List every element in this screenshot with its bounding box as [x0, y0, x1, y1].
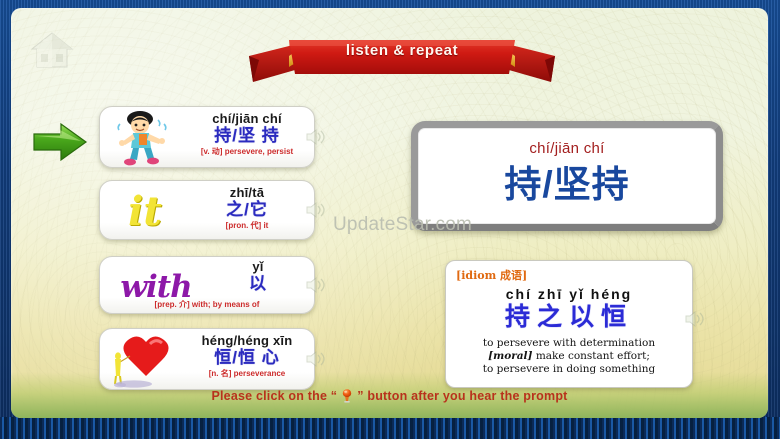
idiom-panel[interactable]: [idiom 成语] chí zhī yǐ héng 持之以恒 to perse… — [445, 260, 693, 388]
speaker-icon[interactable] — [304, 348, 326, 370]
vocab-card[interactable]: it zhī/tā 之/它 [pron. 代] it — [99, 180, 315, 240]
idiom-definition-line-3: to persevere in doing something — [454, 363, 684, 376]
vocab-part-of-speech: [n. 名] — [209, 369, 232, 378]
main-pinyin: chí/jiān chí — [418, 140, 716, 157]
banner-title: listen & repeat — [247, 42, 557, 59]
idiom-hanzi: 持之以恒 — [454, 302, 684, 332]
running-boy-illustration — [106, 110, 184, 170]
vocab-gloss: [prep. 介] with; by means of — [100, 299, 314, 310]
vocab-gloss: [n. 名] perseverance — [186, 368, 308, 379]
vocab-pinyin: chí/jiān chí — [186, 111, 308, 126]
vocab-hanzi: 以 — [208, 274, 308, 294]
vocab-pinyin: yǐ — [208, 259, 308, 274]
vocab-card-text: yǐ 以 — [208, 259, 308, 294]
vocab-pinyin: héng/héng xīn — [186, 333, 308, 348]
speaker-icon[interactable] — [304, 274, 326, 296]
idiom-definitions: to persevere with determination [moral] … — [454, 337, 684, 376]
vocab-part-of-speech: [prep. 介] — [155, 300, 190, 309]
idiom-tag: [idiom 成语] — [456, 267, 684, 283]
vocab-card-text: zhī/tā 之/它 [pron. 代] it — [186, 185, 308, 231]
idiom-definition-line-1: to persevere with determination — [454, 337, 684, 350]
vocab-gloss: [pron. 代] it — [186, 220, 308, 231]
vocab-card[interactable]: chí/jiān chí 持/坚 持 [v. 动] persevere, per… — [99, 106, 315, 168]
idiom-moral-text: make constant effort; — [532, 350, 649, 362]
speaker-icon[interactable] — [304, 126, 326, 148]
banner-ribbon: listen & repeat — [247, 26, 557, 88]
vocab-card-text: héng/héng xīn 恒/恒 心 [n. 名] perseverance — [186, 333, 308, 379]
app-window: listen & repeat — [0, 0, 780, 439]
vocab-definition: it — [263, 221, 268, 230]
frame-bottom-fringe — [0, 417, 780, 439]
speaker-icon[interactable] — [683, 308, 705, 330]
home-icon[interactable] — [29, 28, 75, 72]
vocab-hanzi: 恒/恒 心 — [186, 348, 308, 368]
vocab-card-text: chí/jiān chí 持/坚 持 [v. 动] persevere, per… — [186, 111, 308, 157]
vocab-definition: persevere, persist — [225, 147, 294, 156]
vocab-hanzi: 持/坚 持 — [186, 126, 308, 146]
vocab-gloss: [v. 动] persevere, persist — [186, 146, 308, 157]
main-hanzi: 持/坚持 — [418, 162, 716, 208]
vocab-definition: perseverance — [234, 369, 286, 378]
microphone-icon[interactable] — [339, 388, 355, 404]
speaker-icon[interactable] — [304, 199, 326, 221]
vocab-part-of-speech: [v. 动] — [201, 147, 223, 156]
idiom-definition-line-2: [moral] make constant effort; — [454, 350, 684, 363]
vocab-pinyin: zhī/tā — [186, 185, 308, 200]
vocab-part-of-speech: [pron. 代] — [226, 221, 262, 230]
vocab-definition: with; by means of — [192, 300, 260, 309]
green-arrow-icon[interactable] — [31, 120, 89, 164]
footer-text-before: Please click on the “ — [211, 389, 337, 403]
lesson-stage: listen & repeat — [11, 8, 768, 418]
watermark: UpdateStar.com — [333, 214, 472, 236]
vocab-card[interactable]: héng/héng xīn 恒/恒 心 [n. 名] perseverance — [99, 328, 315, 390]
idiom-pinyin: chí zhī yǐ héng — [454, 286, 684, 302]
vocab-card[interactable]: with yǐ 以 [prep. 介] with; by means of — [99, 256, 315, 314]
footer-text-after: ” button after you hear the prompt — [357, 389, 567, 403]
it-wordart: it — [106, 184, 184, 242]
heart-balloon-illustration — [106, 332, 184, 392]
idiom-moral-label: [moral] — [488, 350, 532, 362]
vocab-hanzi: 之/它 — [186, 200, 308, 220]
footer-instruction: Please click on the “ ” button after you… — [11, 388, 768, 404]
